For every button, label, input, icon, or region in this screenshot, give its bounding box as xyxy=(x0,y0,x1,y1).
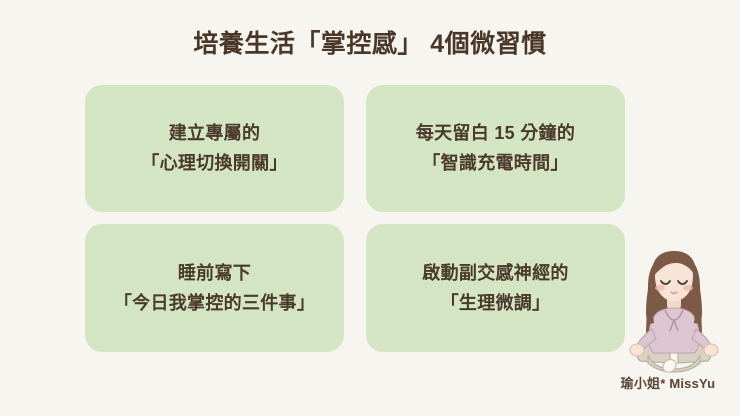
slide-canvas: 培養生活「掌控感」 4個微習慣 建立專屬的 「心理切換開關」 每天留白 15 分… xyxy=(0,0,740,416)
card-cell: 睡前寫下 「今日我掌控的三件事」 xyxy=(85,218,355,352)
habit-card-2-line-2: 「智識充電時間」 xyxy=(422,150,568,177)
habit-card-3-line-1: 睡前寫下 xyxy=(178,260,251,287)
habit-card-3[interactable]: 睡前寫下 「今日我掌控的三件事」 xyxy=(85,224,344,352)
habit-card-2[interactable]: 每天留白 15 分鐘的 「智識充電時間」 xyxy=(366,85,625,212)
card-cell: 建立專屬的 「心理切換開關」 xyxy=(85,85,355,218)
habit-card-3-line-2: 「今日我掌控的三件事」 xyxy=(114,290,315,317)
habit-card-1-line-1: 建立專屬的 xyxy=(169,120,261,147)
card-cell: 每天留白 15 分鐘的 「智識充電時間」 xyxy=(355,85,625,218)
habit-card-grid: 建立專屬的 「心理切換開關」 每天留白 15 分鐘的 「智識充電時間」 睡前寫下… xyxy=(85,85,625,352)
habit-card-4-line-1: 啟動副交感神經的 xyxy=(422,260,568,287)
meditating-woman-illustration xyxy=(618,243,730,375)
habit-card-2-line-1: 每天留白 15 分鐘的 xyxy=(416,120,575,147)
card-cell: 啟動副交感神經的 「生理微調」 xyxy=(355,218,625,352)
page-title: 培養生活「掌控感」 4個微習慣 xyxy=(0,29,740,60)
author-signature: 瑜小姐* MissYu xyxy=(600,373,736,392)
habit-card-1[interactable]: 建立專屬的 「心理切換開關」 xyxy=(85,85,344,212)
habit-card-4[interactable]: 啟動副交感神經的 「生理微調」 xyxy=(366,224,625,352)
habit-card-4-line-2: 「生理微調」 xyxy=(441,290,551,317)
habit-card-1-line-2: 「心理切換開關」 xyxy=(141,150,287,177)
